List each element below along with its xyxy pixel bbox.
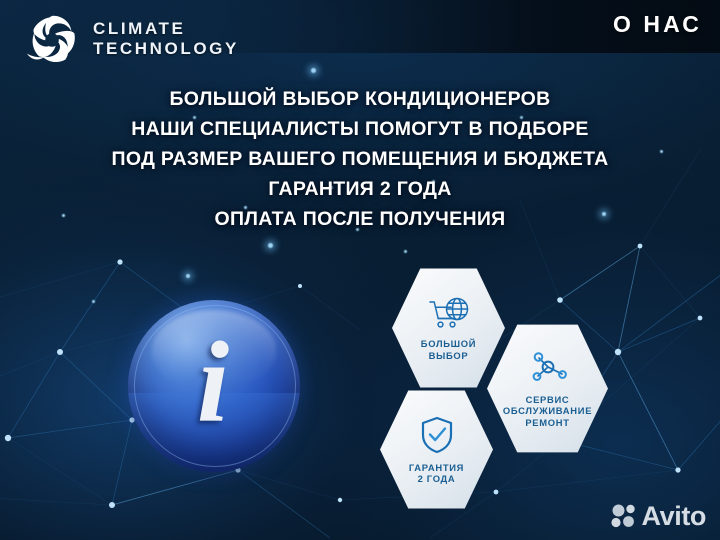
brand-logo: CLIMATE TECHNOLOGY: [22, 8, 239, 70]
badge-label-line1: ГАРАНТИЯ: [409, 462, 464, 474]
badge-label-line1: СЕРВИС: [503, 394, 592, 406]
badge-label-line2: ОБСЛУЖИВАНИЕ: [503, 405, 592, 417]
background-network-pattern: [0, 0, 720, 540]
headline-line-2: НАШИ СПЕЦИАЛИСТЫ ПОМОГУТ В ПОДБОРЕ: [0, 114, 720, 144]
headline-line-4: ГАРАНТИЯ 2 ГОДА: [0, 174, 720, 204]
sphere-highlight: [152, 310, 276, 389]
badge-label-line2: 2 ГОДА: [409, 473, 464, 485]
headline-line-3: ПОД РАЗМЕР ВАШЕГО ПОМЕЩЕНИЯ И БЮДЖЕТА: [0, 144, 720, 174]
brand-name-line2: TECHNOLOGY: [93, 39, 239, 59]
badge-label: СЕРВИС ОБСЛУЖИВАНИЕ РЕМОНТ: [497, 394, 598, 429]
badge-label-line3: РЕМОНТ: [503, 417, 592, 429]
badge-label: БОЛЬШОЙ ВЫБОР: [415, 338, 482, 361]
cart-globe-icon: [427, 295, 471, 331]
info-glyph: i: [128, 300, 300, 472]
info-sphere: i: [128, 300, 300, 472]
headline-line-5: ОПЛАТА ПОСЛЕ ПОЛУЧЕНИЯ: [0, 204, 720, 234]
info-sphere-icon: i: [128, 300, 300, 472]
turbine-spiral-icon: [22, 8, 84, 70]
badge-label-line1: БОЛЬШОЙ: [421, 338, 476, 350]
headline-block: БОЛЬШОЙ ВЫБОР КОНДИЦИОНЕРОВ НАШИ СПЕЦИАЛ…: [0, 84, 720, 234]
headline-line-1: БОЛЬШОЙ ВЫБОР КОНДИЦИОНЕРОВ: [0, 84, 720, 114]
brand-name-line1: CLIMATE: [93, 19, 239, 39]
brand-wordmark: CLIMATE TECHNOLOGY: [93, 19, 239, 59]
poster-canvas: CLIMATE TECHNOLOGY О НАС БОЛЬШОЙ ВЫБОР К…: [0, 0, 720, 540]
badge-label: ГАРАНТИЯ 2 ГОДА: [403, 462, 470, 485]
avito-watermark: Avito: [611, 502, 707, 530]
avito-dots-icon: [611, 504, 637, 528]
badge-label-line2: ВЫБОР: [421, 350, 476, 362]
shield-check-icon: [418, 415, 456, 455]
network-nodes-icon: [525, 349, 571, 385]
avito-wordmark: Avito: [642, 502, 707, 530]
section-title: О НАС: [613, 9, 702, 39]
